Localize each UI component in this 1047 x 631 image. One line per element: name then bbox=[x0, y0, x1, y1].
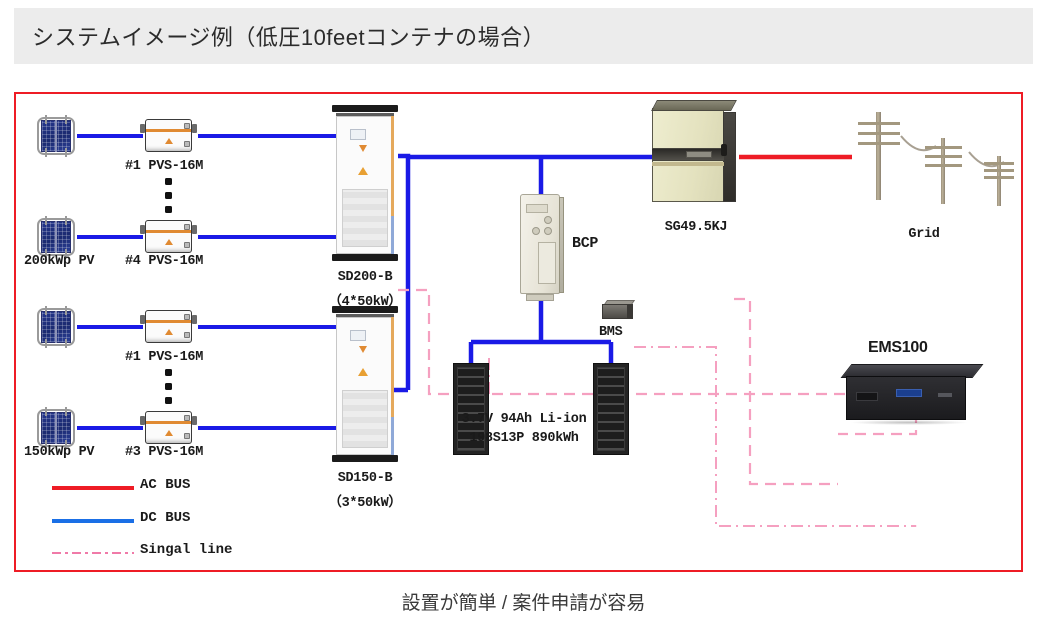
page-header: システムイメージ例（低圧10feetコンテナの場合） bbox=[14, 8, 1033, 64]
legend-ac-bus-swatch bbox=[52, 486, 134, 490]
inverter-pvs16m-icon bbox=[140, 408, 198, 448]
grid-label: Grid bbox=[908, 227, 939, 242]
solar-panel-icon bbox=[34, 115, 78, 157]
ellipsis-icon bbox=[165, 369, 172, 411]
inverter-2-label: #4 PVS-16M bbox=[125, 254, 203, 269]
inverter-pvs16m-icon bbox=[140, 116, 198, 156]
transformer-label: SG49.5KJ bbox=[665, 220, 727, 235]
battery-spec-line1: 3.7V 94Ah Li-ion bbox=[462, 412, 587, 427]
bms-label: BMS bbox=[599, 325, 622, 340]
legend-dc-bus-swatch bbox=[52, 519, 134, 523]
legend-signal-line-label: Singal line bbox=[140, 542, 232, 558]
pv-array-2-label: 200kWp PV bbox=[24, 254, 94, 269]
solar-panel-icon bbox=[34, 407, 78, 449]
pv-array-4-label: 150kWp PV bbox=[24, 445, 94, 460]
solar-panel-icon bbox=[34, 216, 78, 258]
solar-panel-icon bbox=[34, 306, 78, 348]
legend-ac-bus-label: AC BUS bbox=[140, 477, 190, 493]
bms-icon bbox=[602, 300, 634, 320]
bcp-label: BCP bbox=[572, 235, 598, 252]
inverter-4-label: #3 PVS-16M bbox=[125, 445, 203, 460]
inverter-3-label: #1 PVS-16M bbox=[125, 350, 203, 365]
page-title: システムイメージ例（低圧10feetコンテナの場合） bbox=[14, 20, 545, 52]
pcs-sd150b-name: SD150-B bbox=[338, 471, 393, 486]
utility-pole-icon bbox=[922, 138, 966, 206]
ems100-server-icon bbox=[834, 362, 984, 428]
legend-signal-line-swatch bbox=[52, 552, 134, 554]
pcs-sd200b-name: SD200-B bbox=[338, 270, 393, 285]
legend-dc-bus-label: DC BUS bbox=[140, 510, 190, 526]
ellipsis-icon bbox=[165, 178, 172, 220]
figure-caption: 設置が簡単 / 案件申請が容易 bbox=[0, 588, 1047, 615]
utility-pole-icon bbox=[854, 112, 904, 202]
transformer-icon bbox=[652, 100, 738, 205]
pcs-sd200b-icon bbox=[332, 105, 398, 265]
inverter-1-label: #1 PVS-16M bbox=[125, 159, 203, 174]
utility-pole-icon bbox=[982, 156, 1018, 208]
battery-spec-line2: 198S13P 890kWh bbox=[469, 431, 578, 446]
bcp-cabinet-icon bbox=[518, 194, 564, 304]
inverter-pvs16m-icon bbox=[140, 307, 198, 347]
system-diagram-frame: .dc{stroke:#1a1ae6;stroke-width:4.5;fill… bbox=[14, 92, 1023, 572]
battery-rack-icon bbox=[593, 363, 629, 455]
pcs-sd150b-icon bbox=[332, 306, 398, 466]
pcs-sd150b-rating: （3*50kW） bbox=[328, 490, 401, 511]
inverter-pvs16m-icon bbox=[140, 217, 198, 257]
ems100-label: EMS100 bbox=[868, 339, 928, 357]
